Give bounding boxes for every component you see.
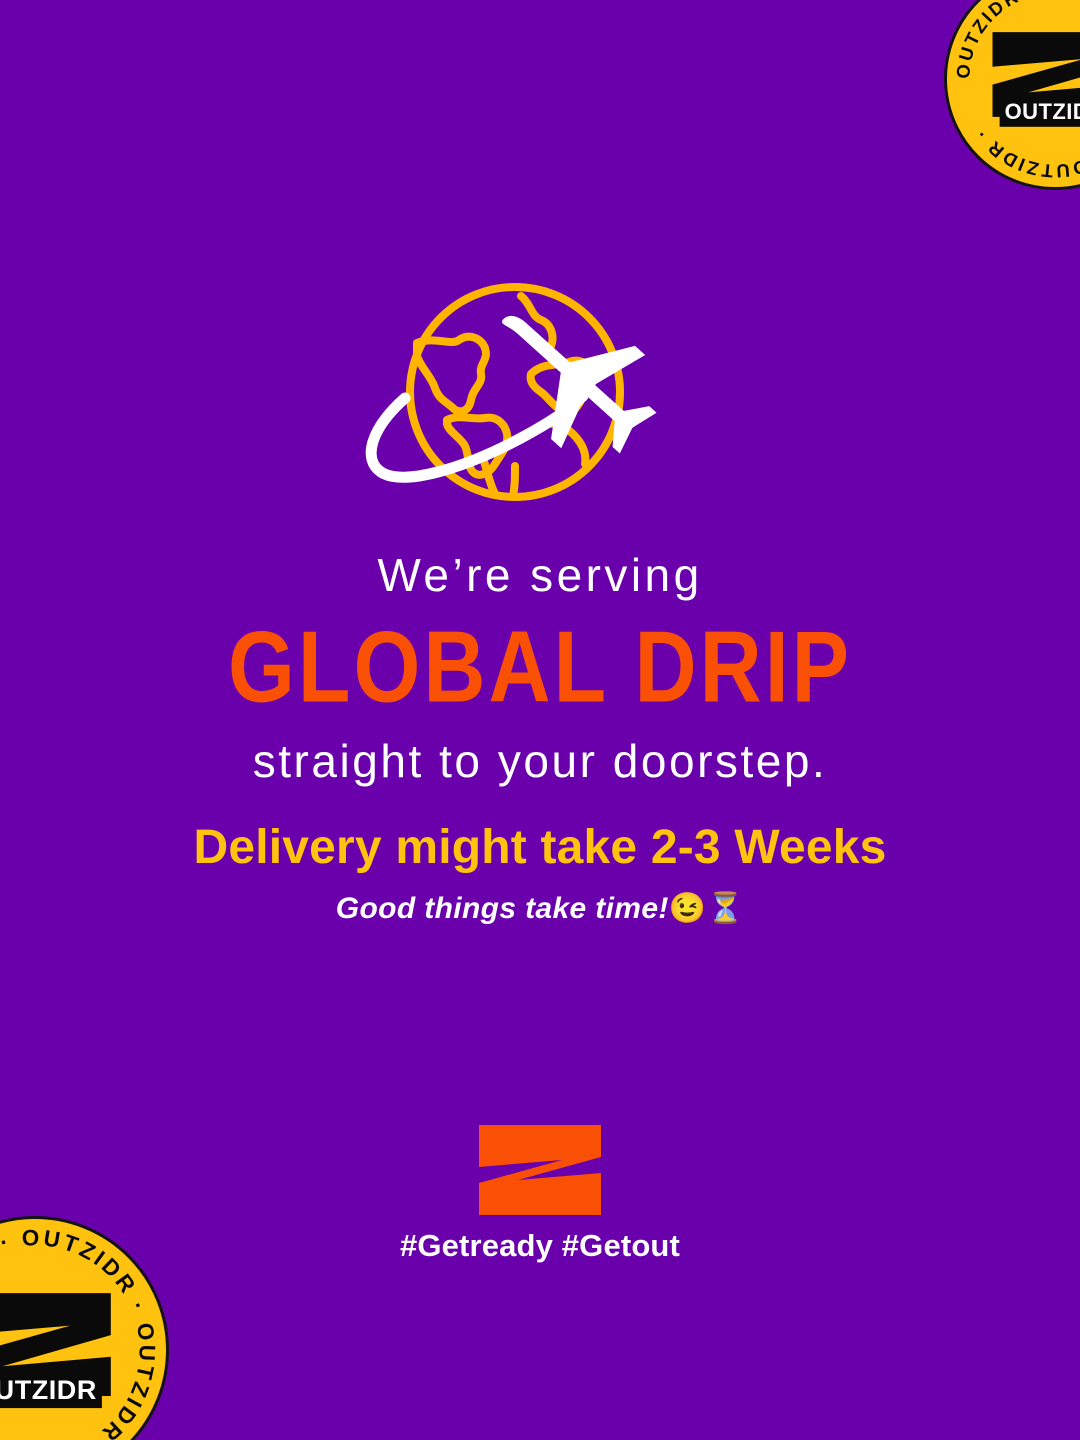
headline-pre-line: We’re serving	[0, 550, 1080, 602]
winking-face-emoji-icon: 😉	[669, 892, 707, 925]
delivery-time-text: Delivery might take 2-3 Weeks	[0, 822, 1080, 875]
delivery-subtext: Good things take time!😉⏳	[0, 892, 1080, 925]
badge-core-bottom-left: OUTZIDR	[0, 1289, 116, 1411]
footer-brand-block: #Getready #Getout	[0, 1124, 1080, 1264]
poster-canvas: OUTZIDR · OUTZIDR · OUTZIDR · OUTZIDR · …	[0, 0, 1080, 1440]
outzidr-z-logo-icon	[478, 1124, 602, 1216]
hourglass-emoji-icon: ⏳	[706, 892, 744, 925]
orbit-swoosh-icon	[371, 396, 583, 477]
delivery-info-block: Delivery might take 2-3 Weeks Good thing…	[0, 822, 1080, 925]
headline-post-line: straight to your doorstep.	[0, 736, 1080, 788]
badge-core-top-right: OUTZIDR	[988, 29, 1080, 129]
headline-block: We’re serving GLOBAL DRIP straight to yo…	[0, 550, 1080, 788]
footer-hashtags: #Getready #Getout	[400, 1228, 680, 1264]
delivery-subtext-label: Good things take time!	[336, 892, 669, 925]
headline-main-line: GLOBAL DRIP	[0, 606, 1080, 730]
globe-airplane-illustration	[355, 268, 685, 518]
badge-wordmark-top-right: OUTZIDR	[1000, 98, 1080, 127]
outzidr-badge-top-right: OUTZIDR · OUTZIDR · OUTZIDR · OUTZIDR · …	[944, 0, 1080, 190]
badge-wordmark-bottom-left: OUTZIDR	[0, 1374, 102, 1408]
